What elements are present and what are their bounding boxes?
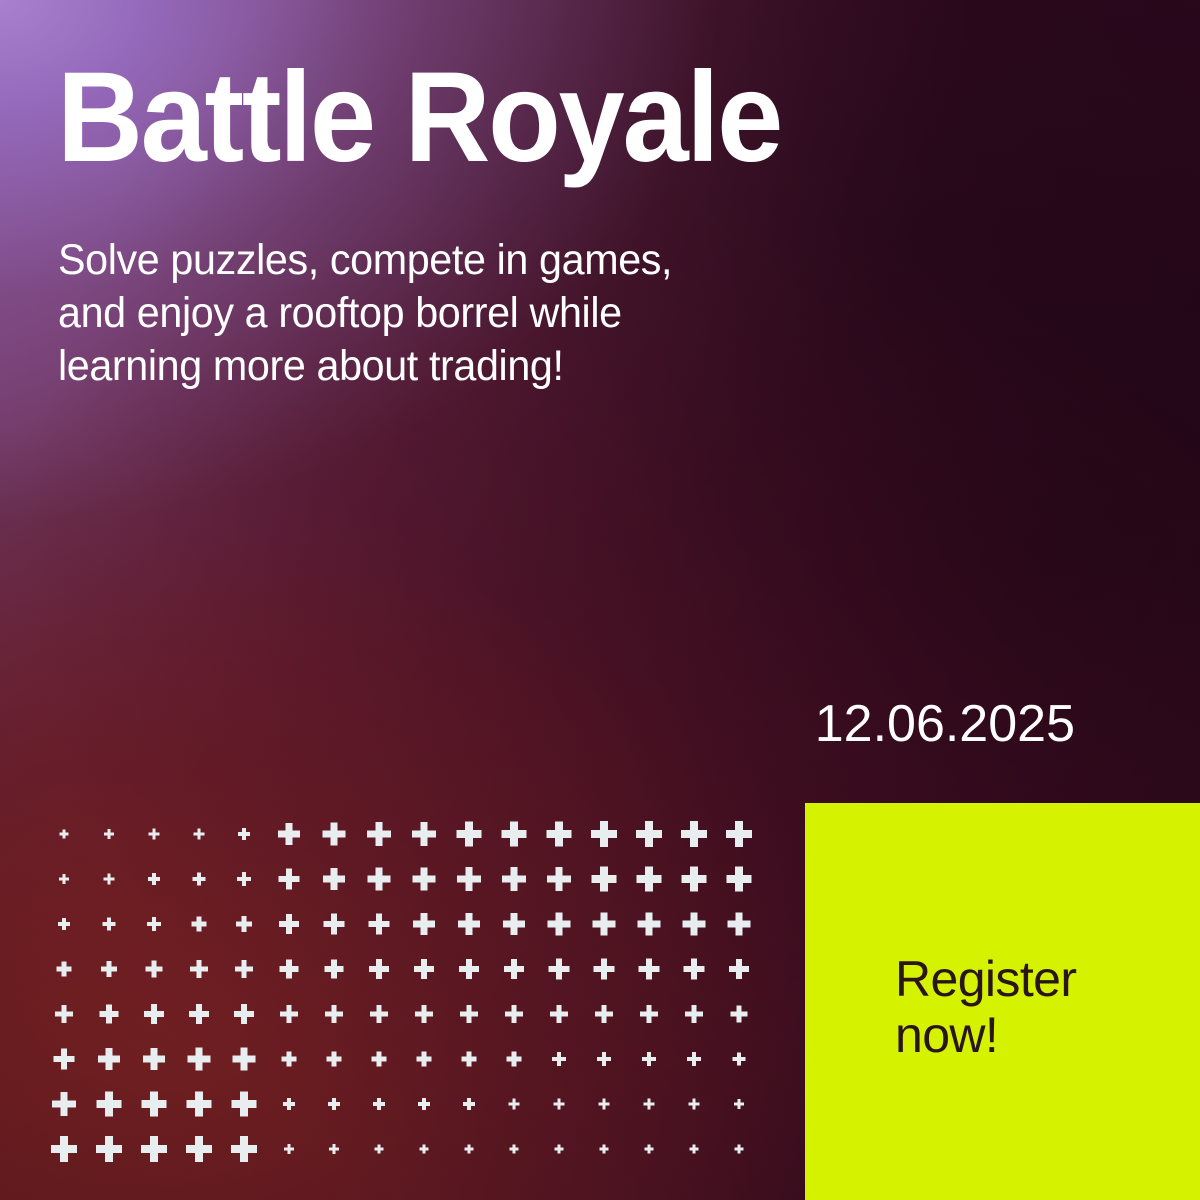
cta-line-1: Register — [895, 951, 1175, 1007]
subtitle-line-2: and enjoy a rooftop borrel while — [58, 287, 788, 340]
subtitle-line-3: learning more about trading! — [58, 340, 788, 393]
register-now-label: Register now! — [895, 951, 1175, 1063]
page-title: Battle Royale — [57, 54, 1034, 182]
event-date: 12.06.2025 — [815, 698, 1075, 750]
event-poster: Battle Royale Solve puzzles, compete in … — [0, 0, 1200, 1200]
register-now-button[interactable]: Register now! — [805, 803, 1200, 1200]
cta-line-2: now! — [895, 1007, 1175, 1063]
subtitle-line-1: Solve puzzles, compete in games, — [58, 234, 788, 287]
subtitle-text: Solve puzzles, compete in games, and enj… — [58, 234, 788, 393]
